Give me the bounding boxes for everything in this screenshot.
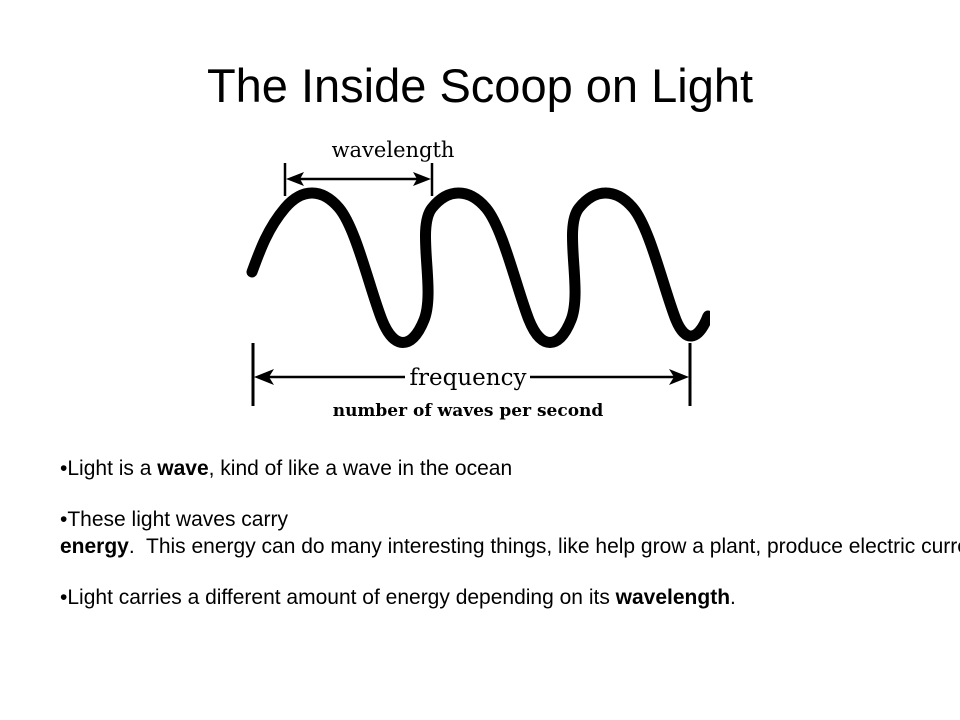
- bullet-text-lead: Light carries a different amount of ener…: [67, 586, 615, 609]
- light-wave-diagram: wavelength frequency number of waves per…: [230, 130, 710, 430]
- bullet-text-lead: These light waves carry: [67, 508, 288, 531]
- bullet-item-wavelength: •Light carries a different amount of ene…: [60, 584, 940, 611]
- page-title: The Inside Scoop on Light: [0, 58, 960, 114]
- bullet-text-tail: , kind of like a wave in the ocean: [209, 457, 513, 480]
- body-bullet-list: •Light is a wave, kind of like a wave in…: [60, 455, 940, 611]
- wavelength-label-text: wavelength: [332, 138, 455, 162]
- bullet-text-strong: wave: [157, 457, 208, 480]
- slide-canvas: The Inside Scoop on Light wavelength: [0, 0, 960, 720]
- bullet-text-strong: energy: [60, 535, 129, 558]
- bullet-text-tail: . This energy can do many interesting th…: [129, 535, 960, 558]
- frequency-sublabel-text: number of waves per second: [333, 401, 604, 421]
- bullet-text-tail: .: [730, 586, 736, 609]
- bullet-item-energy: •These light waves carry energy. This en…: [60, 506, 940, 560]
- frequency-label-text: frequency: [410, 365, 527, 391]
- bullet-item-wave: •Light is a wave, kind of like a wave in…: [60, 455, 940, 482]
- bullet-text-strong: wavelength: [616, 586, 730, 609]
- bullet-text-lead: Light is a: [67, 457, 157, 480]
- sine-wave-path: [252, 193, 708, 343]
